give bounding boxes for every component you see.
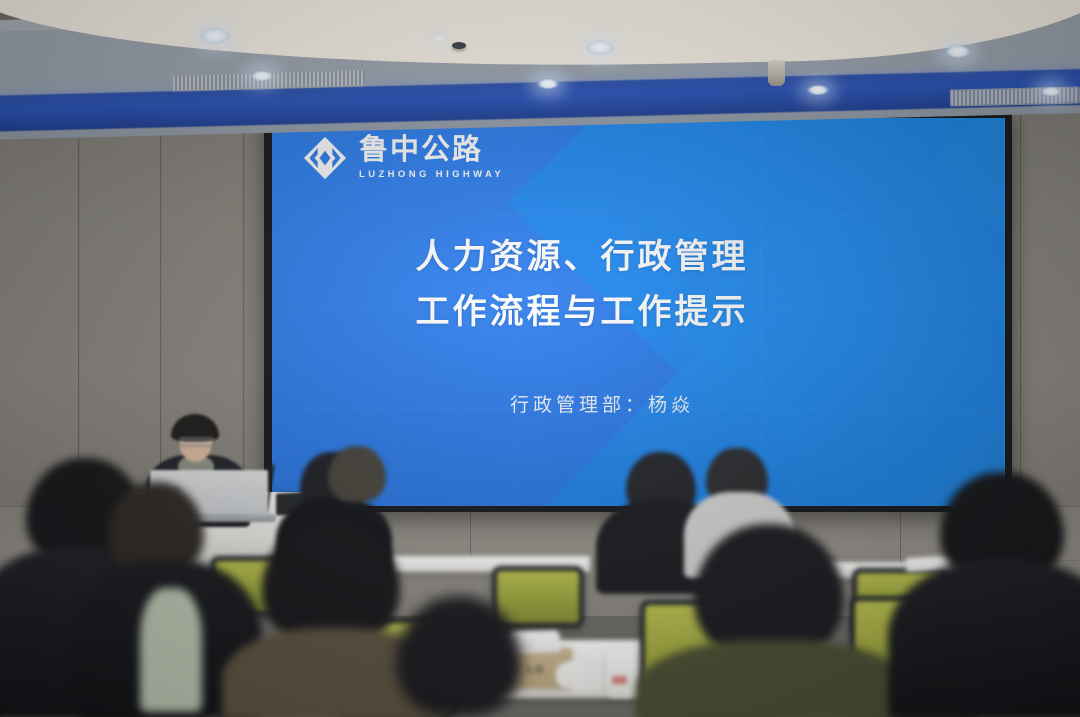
attendee-front-e-body [636,640,912,717]
slide-title-line-1: 人力资源、行政管理 [272,230,892,285]
led-presentation-screen[interactable]: 鲁中公路 LUZHONG HIGHWAY 人力资源、行政管理 工作流程与工作提示… [272,118,1005,506]
ceiling-speaker [768,60,785,86]
attendee-mid-4 [328,446,386,502]
downlight-2 [586,40,614,55]
conference-room-photo: 鲁中公路 LUZHONG HIGHWAY 人力资源、行政管理 工作流程与工作提示… [0,0,1080,717]
slide-presenter-line: 行政管理部：杨焱 [272,390,932,417]
company-logo: 鲁中公路 LUZHONG HIGHWAY [302,136,504,180]
paper-cup-1 [606,650,636,698]
logo-name-cn: 鲁中公路 [359,136,504,165]
slide-title-line-2: 工作流程与工作提示 [272,285,892,340]
downlight-8 [430,34,448,43]
downlight-5 [536,78,560,90]
slide-title: 人力资源、行政管理 工作流程与工作提示 [272,230,892,340]
presenter-glasses [179,437,214,446]
diamond-chevron-logo-icon [302,136,348,180]
logo-name-en: LUZHONG HIGHWAY [359,170,504,180]
smoke-detector-icon [452,42,466,49]
downlight-3 [944,44,972,59]
downlight-1 [200,28,230,44]
downlight-4 [250,70,274,82]
attendee-front-b-scarf [140,588,202,712]
tissue-box-label: LG [527,664,544,676]
attendee-front-f-body [888,560,1080,717]
napkin [556,660,612,690]
downlight-6 [806,84,830,96]
downlight-7 [1040,86,1062,97]
